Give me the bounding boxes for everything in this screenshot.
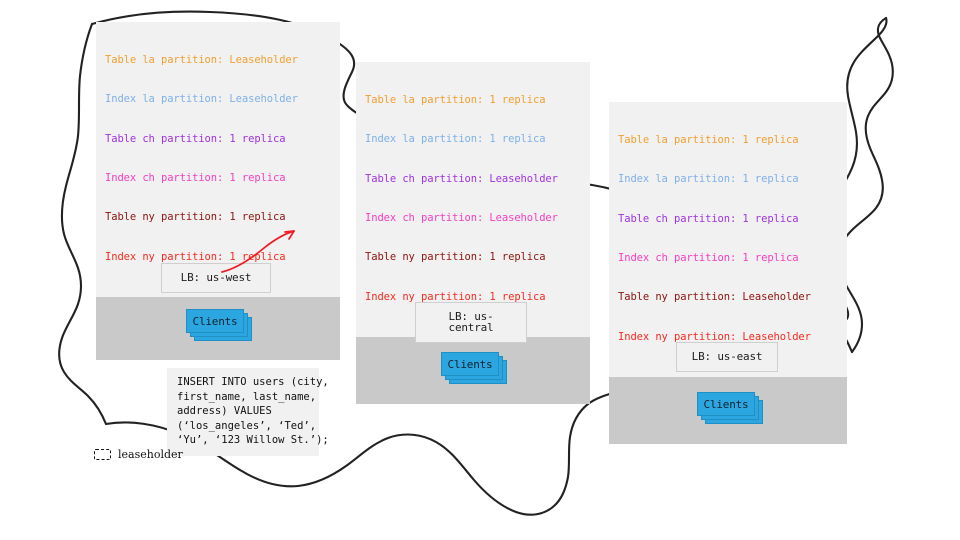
legend-label: leaseholder: [118, 448, 183, 461]
clients-us-west[interactable]: Clients: [186, 309, 254, 343]
info-line: Table ny partition: Leaseholder: [618, 291, 838, 304]
info-line: Index ch partition: 1 replica: [618, 252, 838, 265]
load-balancer-us-central[interactable]: LB: us-central: [415, 302, 527, 343]
info-line: Table la partition: 1 replica: [365, 94, 581, 107]
leaseholder-legend: leaseholder: [94, 448, 183, 461]
info-line: Index la partition: 1 replica: [365, 133, 581, 146]
load-balancer-us-east[interactable]: LB: us-east: [676, 342, 778, 372]
info-line: Table ny partition: 1 replica: [105, 211, 331, 224]
info-line: Table ch partition: 1 replica: [105, 133, 331, 146]
clients-button[interactable]: Clients: [186, 309, 244, 333]
info-line: Index ny partition: 1 replica: [105, 251, 331, 264]
diagram-canvas: Table la partition: Leaseholder Index la…: [0, 0, 960, 540]
info-line: Index ch partition: 1 replica: [105, 172, 331, 185]
dashed-rect-icon: [94, 449, 111, 460]
sql-insert-callout: INSERT INTO users (city, first_name, las…: [167, 368, 319, 456]
info-line: Index ch partition: Leaseholder: [365, 212, 581, 225]
info-line: Table ch partition: Leaseholder: [365, 173, 581, 186]
partition-info-us-west: Table la partition: Leaseholder Index la…: [96, 22, 340, 297]
info-line: Table la partition: Leaseholder: [105, 54, 331, 67]
clients-us-east[interactable]: Clients: [697, 392, 765, 426]
info-line: Index la partition: 1 replica: [618, 173, 838, 186]
clients-button[interactable]: Clients: [441, 352, 499, 376]
info-line: Table la partition: 1 replica: [618, 134, 838, 147]
info-line: Table ch partition: 1 replica: [618, 213, 838, 226]
clients-button[interactable]: Clients: [697, 392, 755, 416]
info-line: Table ny partition: 1 replica: [365, 251, 581, 264]
clients-us-central[interactable]: Clients: [441, 352, 509, 386]
partition-info-us-central: Table la partition: 1 replica Index la p…: [356, 62, 590, 337]
partition-info-us-east: Table la partition: 1 replica Index la p…: [609, 102, 847, 377]
load-balancer-us-west[interactable]: LB: us-west: [161, 263, 271, 293]
info-line: Index la partition: Leaseholder: [105, 93, 331, 106]
